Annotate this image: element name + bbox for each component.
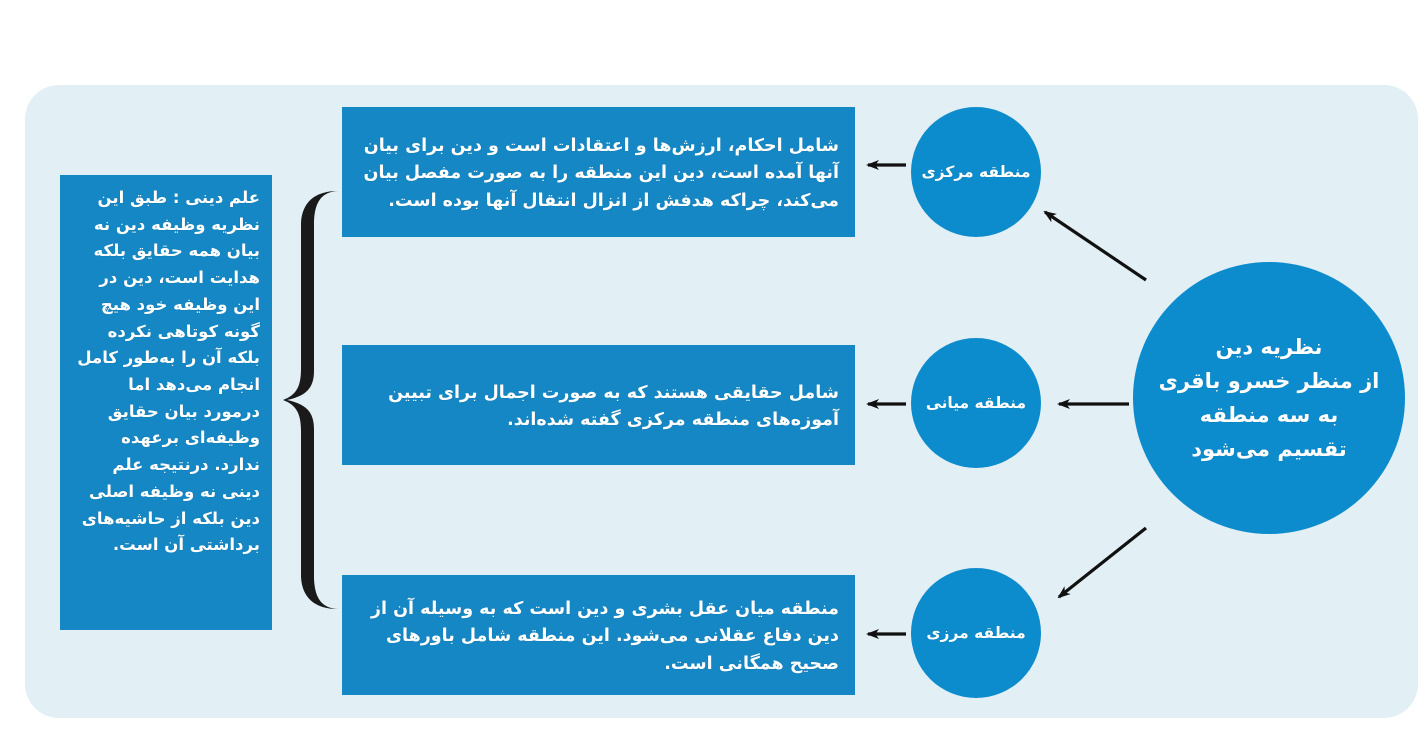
description-box-border: منطقه میان عقل بشری و دین است که به وسیل… [342,575,855,695]
main-line-2: از منظر خسرو باقری [1159,369,1380,393]
main-concept-circle: نظریه دین از منظر خسرو باقری به سه منطقه… [1133,262,1405,534]
description-text-central: شامل احکام، ارزش‌ها و اعتقادات است و دین… [358,133,839,214]
summary-panel: علم دینی : طبق این نظریه وظیفه دین نه بی… [60,175,272,630]
diagram-canvas: علم دینی : طبق این نظریه وظیفه دین نه بی… [0,0,1428,732]
description-text-middle: شامل حقایقی هستند که به صورت اجمال برای … [358,380,839,434]
description-box-central: شامل احکام، ارزش‌ها و اعتقادات است و دین… [342,107,855,237]
description-box-middle: شامل حقایقی هستند که به صورت اجمال برای … [342,345,855,465]
description-text-border: منطقه میان عقل بشری و دین است که به وسیل… [358,596,839,677]
zone-circle-middle: منطقه میانی [911,338,1041,468]
zone-label-middle: منطقه میانی [926,393,1026,414]
zone-circle-central: منطقه مرکزی [911,107,1041,237]
main-line-4: تقسیم می‌شود [1191,437,1347,461]
zone-label-central: منطقه مرکزی [921,162,1030,183]
zone-circle-border: منطقه مرزی [911,568,1041,698]
curly-brace [282,185,344,615]
main-line-1: نظریه دین [1216,335,1323,359]
main-line-3: به سه منطقه [1200,403,1339,427]
zone-label-border: منطقه مرزی [926,623,1025,644]
main-concept-label: نظریه دین از منظر خسرو باقری به سه منطقه… [1145,330,1394,466]
